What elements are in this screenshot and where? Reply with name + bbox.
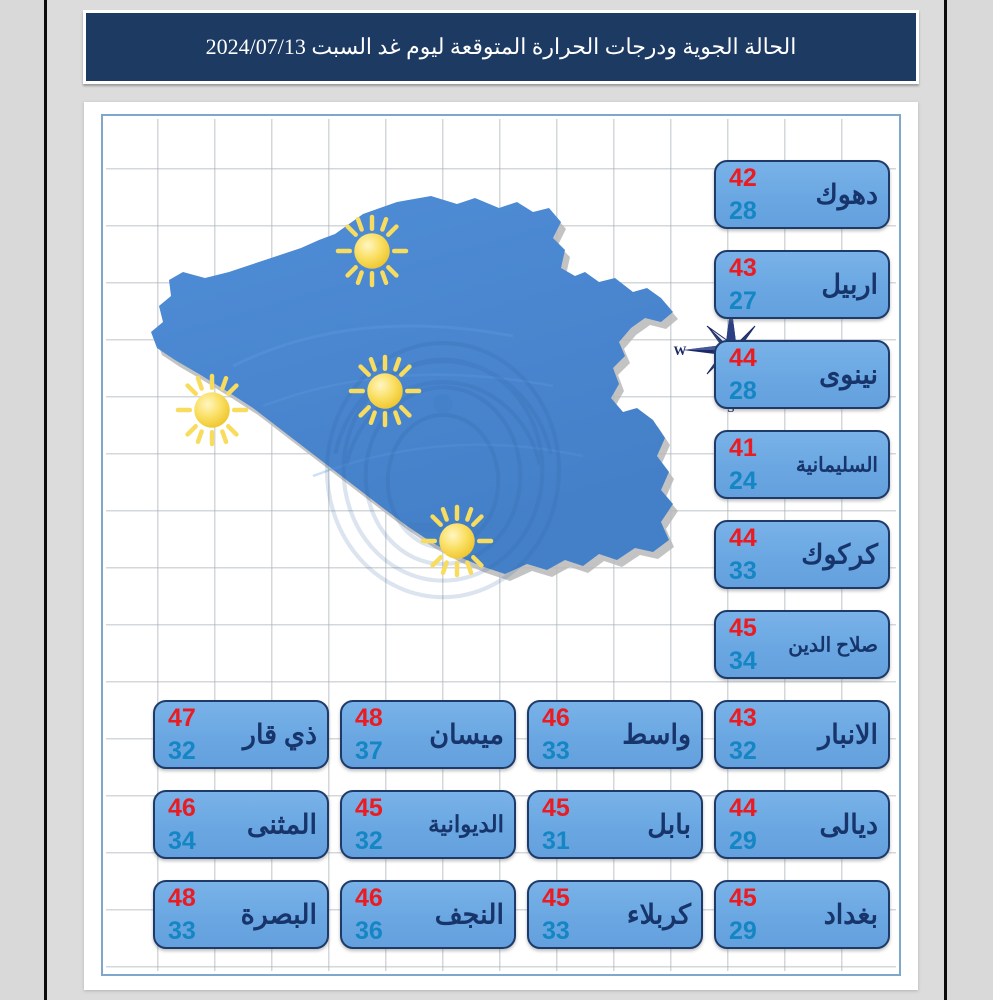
compass-label-w: W [674,343,687,358]
max-temp: 48 [168,883,196,913]
max-temp: 42 [729,163,757,193]
min-temp: 33 [168,916,196,946]
sun-icon-central [348,354,422,428]
forecast-header-banner: الحالة الجوية ودرجات الحرارة المتوقعة لي… [83,10,919,84]
max-temp: 44 [729,793,757,823]
city-name: كركوك [801,539,878,570]
max-temp: 47 [168,703,196,733]
min-temp: 32 [729,736,757,766]
city-name: المثنى [247,809,317,840]
sun-icon-west [175,373,249,447]
max-temp: 43 [729,253,757,283]
city-card-ذي-قار[interactable]: 4732ذي قار [153,700,329,769]
min-temp: 29 [729,916,757,946]
min-temp: 28 [729,376,757,406]
iraq-map [113,156,693,676]
page-gutter-left [0,0,44,1000]
city-card-بغداد[interactable]: 4529بغداد [714,880,890,949]
min-temp: 34 [168,826,196,856]
max-temp: 45 [542,883,570,913]
city-name: كربلاء [627,899,691,930]
city-card-الديوانية[interactable]: 4532الديوانية [340,790,516,859]
page-title: الحالة الجوية ودرجات الحرارة المتوقعة لي… [190,31,813,63]
max-temp: 45 [355,793,383,823]
min-temp: 32 [168,736,196,766]
min-temp: 37 [355,736,383,766]
city-card-ديالى[interactable]: 4429ديالى [714,790,890,859]
sun-icon-south [420,504,494,578]
city-name: صلاح الدين [788,632,878,657]
max-temp: 45 [729,613,757,643]
min-temp: 34 [729,646,757,676]
max-temp: 46 [168,793,196,823]
city-card-المثنى[interactable]: 4634المثنى [153,790,329,859]
page-rule-right [944,0,947,1000]
city-name: بابل [647,809,691,840]
min-temp: 33 [542,916,570,946]
city-card-كركوك[interactable]: 4433كركوك [714,520,890,589]
forecast-content-card: N E S W 4228دهوك4327اربيل4428نينوى4124ال… [84,102,918,990]
min-temp: 33 [729,556,757,586]
min-temp: 28 [729,196,757,226]
city-card-السليمانية[interactable]: 4124السليمانية [714,430,890,499]
city-card-كربلاء[interactable]: 4533كربلاء [527,880,703,949]
city-name: اربيل [821,269,878,300]
max-temp: 45 [542,793,570,823]
max-temp: 46 [542,703,570,733]
city-name: واسط [622,719,691,750]
city-card-نينوى[interactable]: 4428نينوى [714,340,890,409]
city-name: ذي قار [243,719,317,750]
city-name: دهوك [816,179,878,210]
max-temp: 44 [729,343,757,373]
city-card-بابل[interactable]: 4531بابل [527,790,703,859]
city-name: الانبار [818,719,878,750]
city-name: الديوانية [428,812,504,838]
city-name: ديالى [820,809,879,840]
city-card-صلاح-الدين[interactable]: 4534صلاح الدين [714,610,890,679]
max-temp: 45 [729,883,757,913]
min-temp: 24 [729,466,757,496]
city-name: نينوى [819,359,878,390]
min-temp: 32 [355,826,383,856]
max-temp: 43 [729,703,757,733]
city-name: البصرة [241,899,317,930]
max-temp: 44 [729,523,757,553]
city-name: النجف [435,899,504,930]
city-card-البصرة[interactable]: 4833البصرة [153,880,329,949]
city-name: السليمانية [796,452,878,477]
max-temp: 41 [729,433,757,463]
min-temp: 29 [729,826,757,856]
max-temp: 48 [355,703,383,733]
city-card-دهوك[interactable]: 4228دهوك [714,160,890,229]
city-name: بغداد [824,899,878,930]
min-temp: 31 [542,826,570,856]
min-temp: 27 [729,286,757,316]
city-card-اربيل[interactable]: 4327اربيل [714,250,890,319]
max-temp: 46 [355,883,383,913]
city-card-الانبار[interactable]: 4332الانبار [714,700,890,769]
min-temp: 33 [542,736,570,766]
city-name: ميسان [429,719,504,750]
sun-icon-north [335,214,409,288]
page-gutter-right [947,0,993,1000]
min-temp: 36 [355,916,383,946]
forecast-inner-frame: N E S W 4228دهوك4327اربيل4428نينوى4124ال… [101,114,901,976]
city-card-ميسان[interactable]: 4837ميسان [340,700,516,769]
city-card-واسط[interactable]: 4633واسط [527,700,703,769]
city-card-النجف[interactable]: 4636النجف [340,880,516,949]
